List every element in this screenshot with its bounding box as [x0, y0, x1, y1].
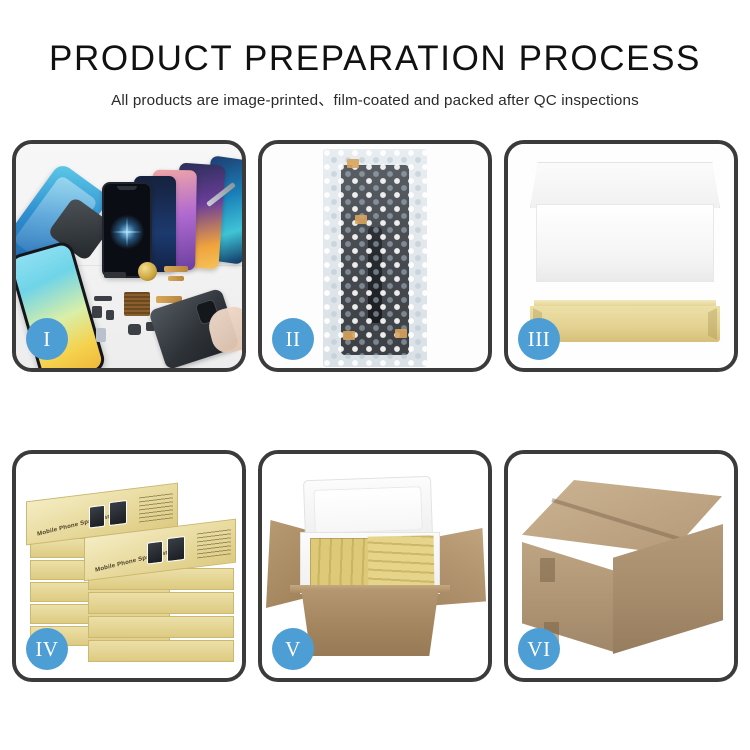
tape-piece-1 — [347, 159, 359, 168]
bubble-wrap-bag — [323, 149, 427, 367]
step-badge-6: VI — [518, 628, 560, 670]
step-panel-3[interactable]: III — [504, 140, 738, 372]
tape-piece-2 — [355, 215, 367, 224]
process-steps-grid: I II — [12, 140, 738, 688]
screen-burst-graphic — [110, 215, 144, 249]
white-foam-sheet — [536, 204, 714, 282]
stacked-box-edge — [88, 616, 234, 638]
speaker-part — [138, 262, 157, 281]
tape-piece-4 — [395, 329, 407, 338]
flex-cable-2 — [168, 276, 184, 281]
bubble-texture — [323, 149, 427, 367]
chip-board — [124, 292, 150, 316]
step-badge-5: V — [272, 628, 314, 670]
box-art-phone-2 — [109, 500, 127, 526]
page-subtitle: All products are image-printed、film-coat… — [0, 88, 750, 110]
step-badge-3: III — [518, 318, 560, 360]
page-title: PRODUCT PREPARATION PROCESS — [0, 38, 750, 80]
step-panel-2[interactable]: II — [258, 140, 492, 372]
stacked-box-edge — [88, 592, 234, 614]
carton-tape-top — [540, 558, 555, 582]
carton-front-panel — [292, 590, 448, 656]
phone-notch — [117, 186, 137, 190]
tape-piece-3 — [343, 331, 355, 340]
small-part-3 — [106, 310, 114, 320]
header: PRODUCT PREPARATION PROCESS All products… — [0, 38, 750, 110]
box-art-textlines — [197, 528, 231, 558]
box-art-phone-1 — [147, 541, 163, 565]
product-preparation-infographic: PRODUCT PREPARATION PROCESS All products… — [0, 0, 750, 750]
step-badge-4: IV — [26, 628, 68, 670]
yellow-boxes-row-2 — [368, 535, 435, 586]
small-part-1 — [94, 296, 112, 301]
box-lid-open — [530, 162, 720, 208]
step-panel-1[interactable]: I — [12, 140, 246, 372]
stacked-box-edge — [88, 640, 234, 662]
step-panel-5[interactable]: V — [258, 450, 492, 682]
camera-module — [128, 324, 141, 335]
earpiece-part — [104, 272, 126, 278]
flex-cable-1 — [164, 266, 188, 272]
sim-tray — [96, 328, 106, 342]
step-badge-1: I — [26, 318, 68, 360]
box-art-phone-2 — [167, 536, 185, 562]
step-badge-2: II — [272, 318, 314, 360]
step-panel-6[interactable]: VI — [504, 450, 738, 682]
box-art-textlines — [139, 492, 173, 522]
box-art-phone-1 — [89, 505, 105, 529]
step-panel-4[interactable]: Mobile Phone Spare Parts Mobile Phone Sp… — [12, 450, 246, 682]
small-part-2 — [92, 306, 102, 318]
